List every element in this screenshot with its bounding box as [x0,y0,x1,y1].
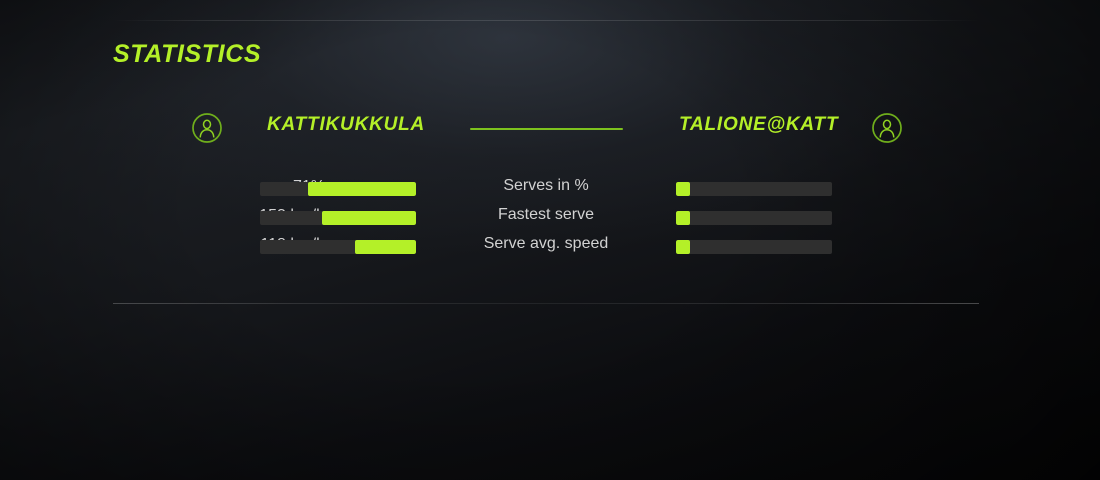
stat-bar-right-fill [676,240,690,254]
stat-label: Fastest serve [416,206,676,224]
user-avatar-icon [191,112,223,144]
stat-bar-right [676,182,832,196]
player-name-right: TALIONE@KATT [679,114,838,136]
stat-label: Serves in % [416,177,676,195]
user-avatar-icon [871,112,903,144]
stat-row: 153 km/h Fastest serve [113,205,979,234]
stat-row: 118 km/h Serve avg. speed [113,234,979,263]
stat-bar-left [260,211,416,225]
stat-bar-right [676,211,832,225]
stat-bar-right-fill [676,182,690,196]
header-accent-line [470,128,623,130]
stat-bar-left [260,182,416,196]
players-header: KATTIKUKKULA TALIONE@KATT [113,108,979,152]
player-name-left: KATTIKUKKULA [267,114,425,136]
statistics-rows: 71% Serves in % 153 km/h Fastest serve 1… [113,176,979,263]
statistics-panel: STATISTICS KATTIKUKKULA TALIONE@KATT 71% [0,0,1100,480]
stat-bar-left-fill [322,211,416,225]
stat-bar-left-fill [355,240,416,254]
stat-bar-left [260,240,416,254]
stat-bar-right [676,240,832,254]
divider-top [113,20,979,21]
stat-bar-left-fill [308,182,416,196]
stat-label: Serve avg. speed [416,235,676,253]
page-title: STATISTICS [113,40,261,69]
stat-bar-right-fill [676,211,690,225]
stat-row: 71% Serves in % [113,176,979,205]
divider-bottom [113,303,979,304]
